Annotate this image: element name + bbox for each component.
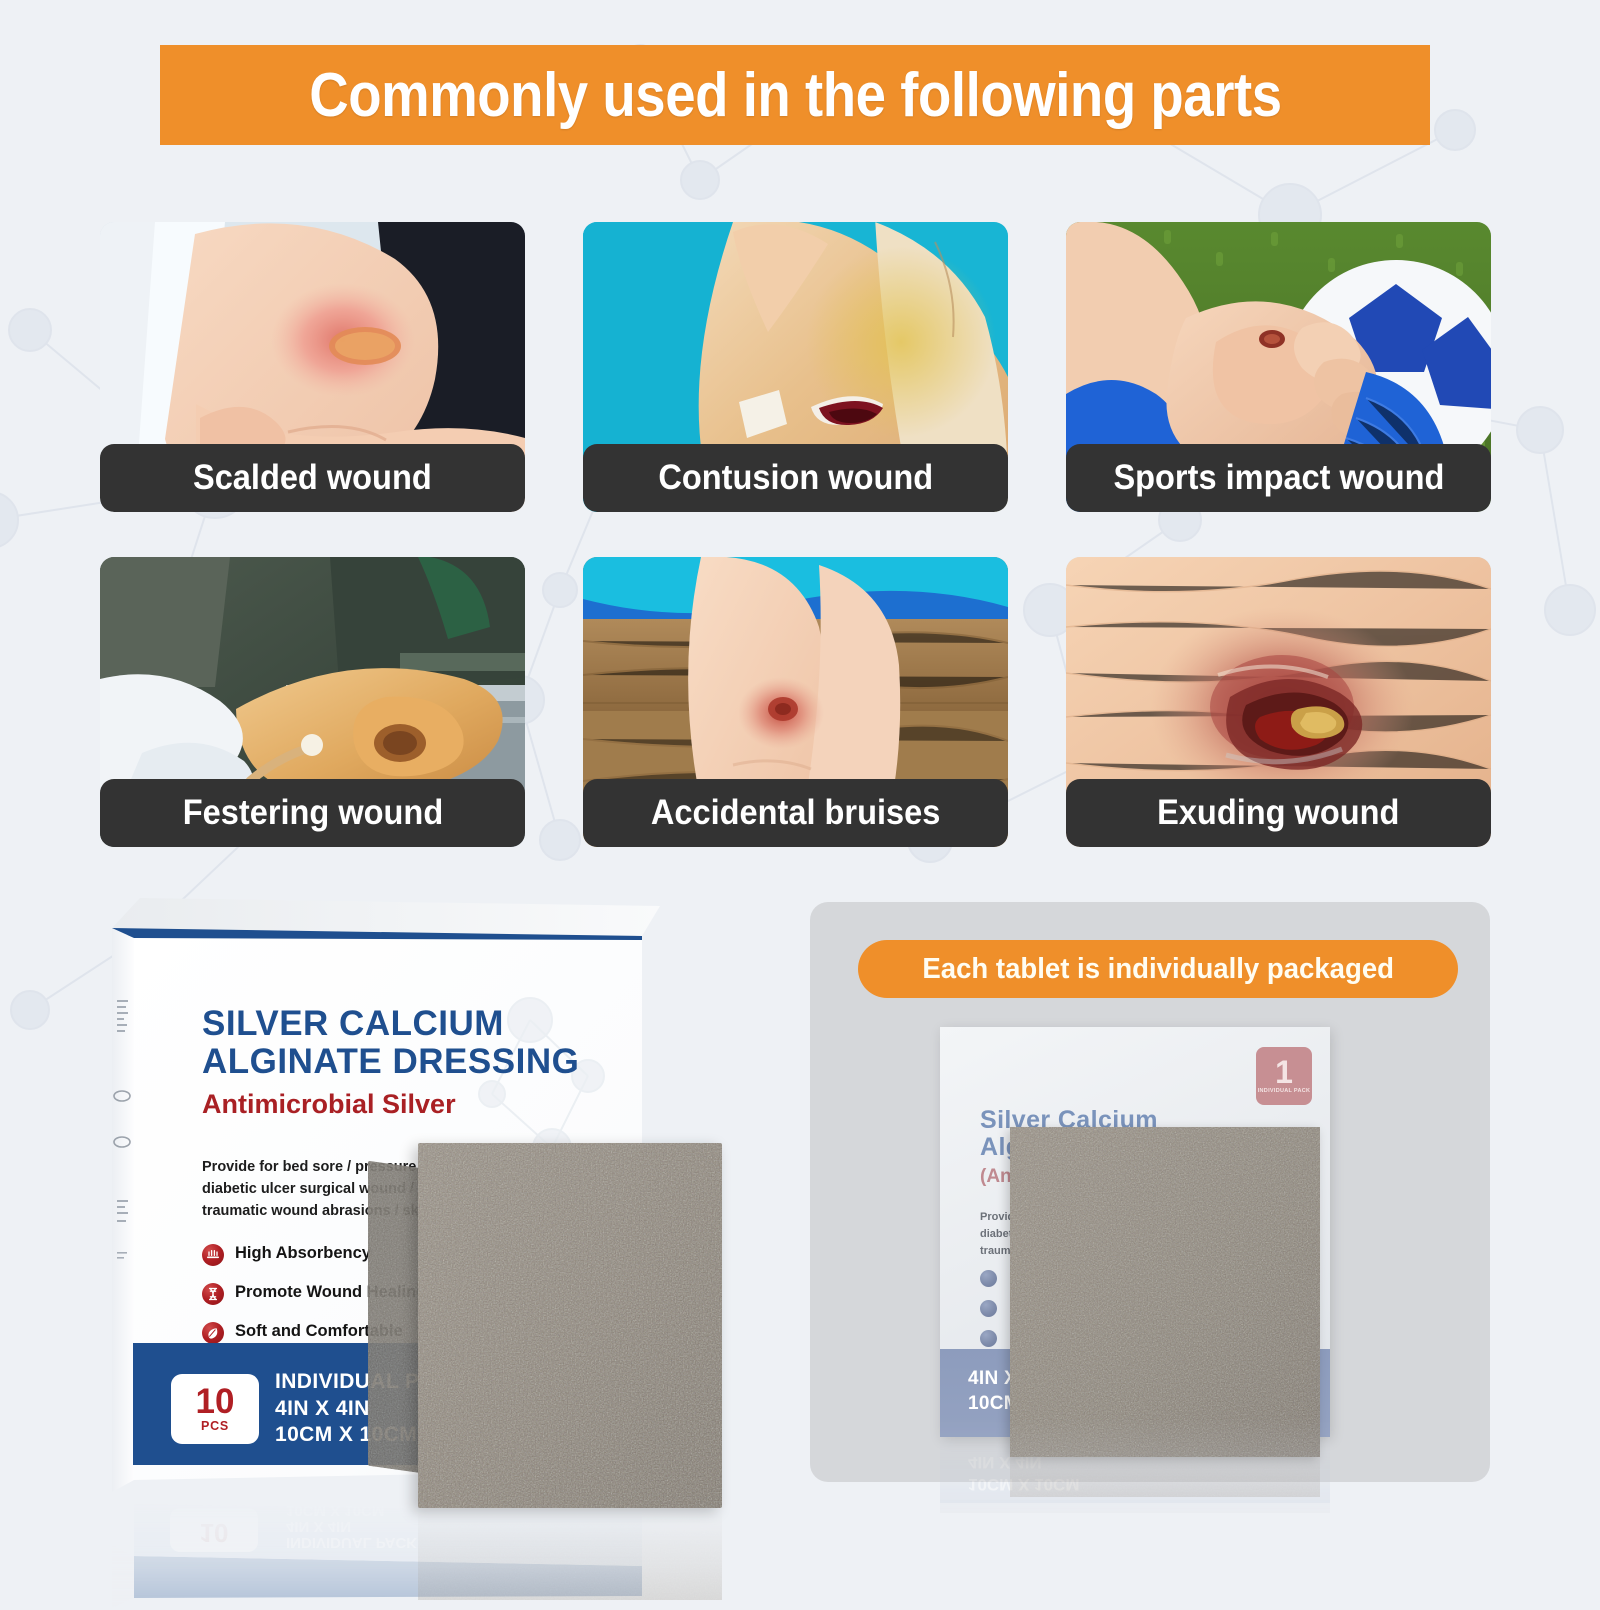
individual-pack-badge: 1 INDIVIDUAL PACK bbox=[1256, 1047, 1312, 1105]
wound-card-contusion[interactable]: Contusion wound bbox=[583, 222, 1008, 512]
wound-type-grid: Scalded wound bbox=[100, 222, 1490, 847]
leaf-soft-icon bbox=[202, 1322, 224, 1344]
single-pack[interactable]: 1 INDIVIDUAL PACK Silver Calcium Alginat… bbox=[940, 1027, 1330, 1437]
wound-card-accidental-bruises[interactable]: Accidental bruises bbox=[583, 557, 1008, 847]
header-banner: Commonly used in the following parts bbox=[160, 45, 1430, 145]
pcs-count: 10 bbox=[196, 1385, 235, 1418]
wound-card-festering[interactable]: Festering wound bbox=[100, 557, 525, 847]
badge-label: INDIVIDUAL PACK bbox=[1258, 1088, 1311, 1094]
box-title-line-1: SILVER CALCIUM bbox=[202, 1005, 622, 1043]
dressing-pad-reflection bbox=[418, 1508, 722, 1600]
svg-text:4IN X 4IN: 4IN X 4IN bbox=[286, 1518, 351, 1535]
wound-card-exuding[interactable]: Exuding wound bbox=[1066, 557, 1491, 847]
wound-card-caption: Sports impact wound bbox=[1066, 444, 1491, 512]
dressing-pad-front bbox=[418, 1143, 722, 1508]
feature-label: High Absorbency bbox=[235, 1243, 371, 1264]
svg-text:10: 10 bbox=[200, 1518, 229, 1548]
bullet-dot bbox=[980, 1300, 997, 1317]
box-title-block: SILVER CALCIUM ALGINATE DRESSING Antimic… bbox=[202, 1005, 622, 1120]
page-title: Commonly used in the following parts bbox=[309, 60, 1281, 131]
pack-banner: Each tablet is individually packaged bbox=[858, 940, 1458, 998]
pack-banner-label: Each tablet is individually packaged bbox=[922, 953, 1394, 986]
wound-card-caption: Accidental bruises bbox=[583, 779, 1008, 847]
box-title-line-2: ALGINATE DRESSING bbox=[202, 1043, 622, 1081]
retail-box[interactable]: SILVER CALCIUM ALGINATE DRESSING Antimic… bbox=[100, 880, 660, 1520]
individual-pack-panel: Each tablet is individually packaged 1 I… bbox=[810, 902, 1490, 1482]
pcs-badge: 10 PCS bbox=[171, 1374, 259, 1444]
bullet-dot bbox=[980, 1270, 997, 1287]
wound-card-caption: Festering wound bbox=[100, 779, 525, 847]
badge-number: 1 bbox=[1275, 1058, 1293, 1087]
single-pack-dressing-pad bbox=[1010, 1127, 1320, 1457]
svg-text:INDIVIDUAL PACK: INDIVIDUAL PACK bbox=[286, 1534, 417, 1551]
wound-card-caption: Scalded wound bbox=[100, 444, 525, 512]
wound-card-scalded[interactable]: Scalded wound bbox=[100, 222, 525, 512]
product-showcase: SILVER CALCIUM ALGINATE DRESSING Antimic… bbox=[0, 880, 1600, 1600]
absorbency-icon bbox=[202, 1244, 224, 1266]
dna-healing-icon bbox=[202, 1283, 224, 1305]
pcs-unit: PCS bbox=[201, 1419, 229, 1433]
box-subtitle: Antimicrobial Silver bbox=[202, 1089, 622, 1120]
wound-card-caption: Exuding wound bbox=[1066, 779, 1491, 847]
bullet-dot bbox=[980, 1330, 997, 1347]
wound-card-caption: Contusion wound bbox=[583, 444, 1008, 512]
wound-card-sports-impact[interactable]: Sports impact wound bbox=[1066, 222, 1491, 512]
